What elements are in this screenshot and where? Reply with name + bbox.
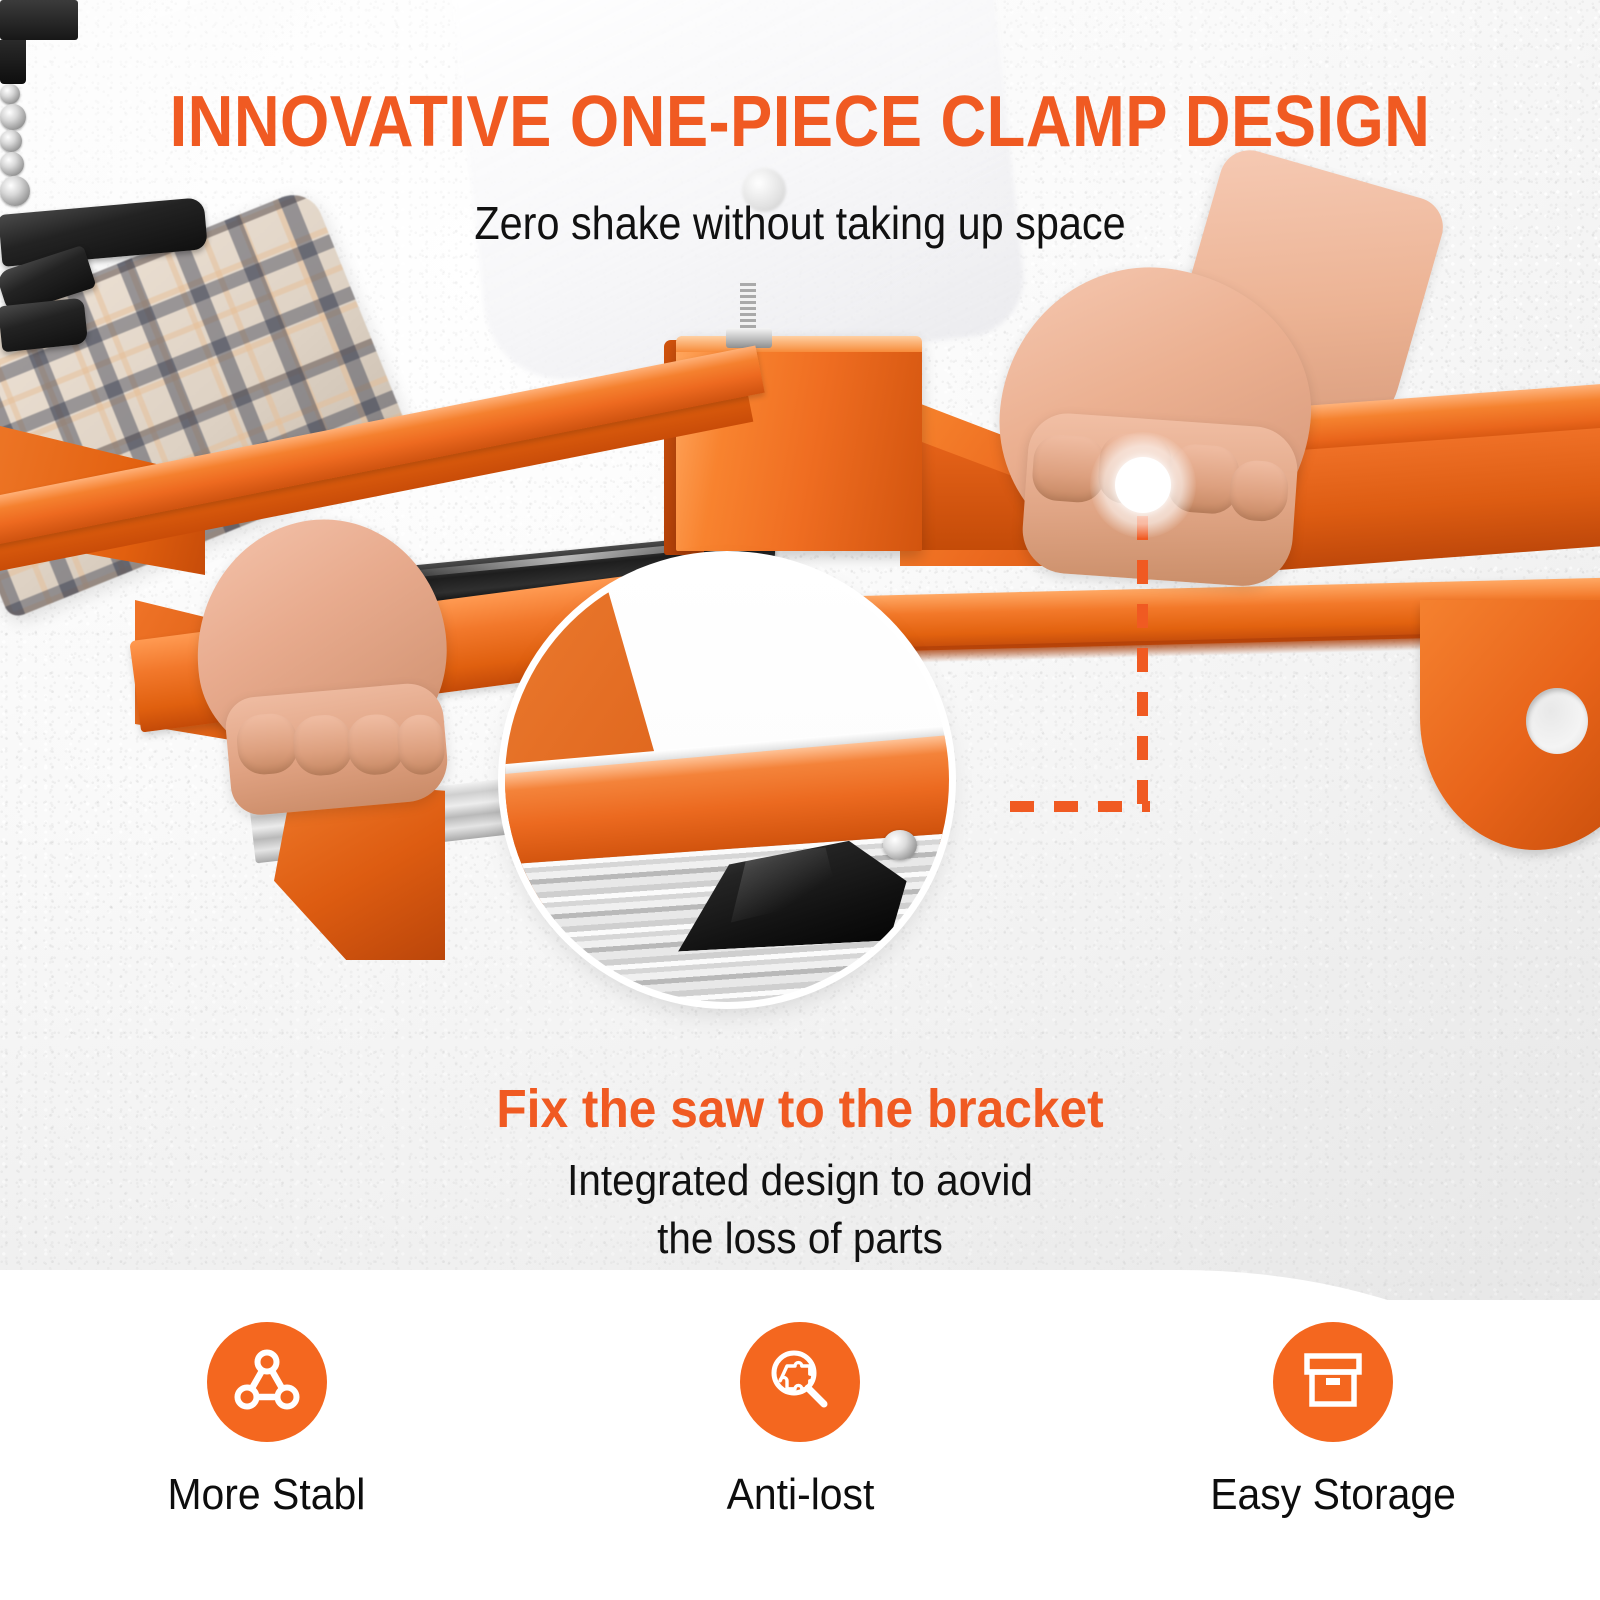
feature-icon-badge-3 — [1273, 1322, 1393, 1442]
section-heading: Fix the saw to the bracket — [64, 1078, 1536, 1140]
end-plate-hole — [1526, 688, 1588, 754]
bolt-right-rail — [0, 176, 30, 206]
product-photo: INNOVATIVE ONE-PIECE CLAMP DESIGN Zero s… — [0, 0, 1600, 1300]
feature-item-easy-storage: Easy Storage — [1067, 1290, 1600, 1600]
finger-4 — [395, 713, 446, 777]
product-infographic: INNOVATIVE ONE-PIECE CLAMP DESIGN Zero s… — [0, 0, 1600, 1600]
finger-1 — [235, 712, 300, 777]
callout-leader-horizontal — [1010, 801, 1150, 812]
feature-label-3: Easy Storage — [1210, 1470, 1456, 1520]
page-title: INNOVATIVE ONE-PIECE CLAMP DESIGN — [96, 86, 1504, 158]
feature-item-anti-lost: Anti-lost — [533, 1290, 1066, 1600]
bolt-left-cap — [0, 84, 20, 104]
finger-2 — [291, 713, 354, 778]
callout-marker-dot — [1115, 457, 1171, 513]
storage-box-icon — [1296, 1343, 1370, 1422]
left-end-cap — [0, 0, 78, 40]
magnifier-puzzle-icon — [763, 1343, 837, 1422]
triangle-nodes-icon — [230, 1343, 304, 1422]
section-description: Integrated design to aovid the loss of p… — [64, 1152, 1536, 1268]
magnifier-detail-circle — [505, 558, 949, 1002]
callout-leader-vertical — [1137, 516, 1148, 812]
feature-icon-badge-1 — [207, 1322, 327, 1442]
page-subtitle: Zero shake without taking up space — [80, 196, 1520, 250]
right-grip-foot — [0, 298, 88, 353]
feature-label-2: Anti-lost — [726, 1470, 874, 1520]
bracket-box-lip — [676, 336, 922, 352]
bolt-left-lower — [0, 152, 24, 176]
bolt-center — [0, 104, 26, 130]
left-hand-fingers — [223, 681, 450, 818]
right-finger-4 — [1228, 459, 1290, 523]
feature-icon-badge-2 — [740, 1322, 860, 1442]
bolt-nut — [726, 328, 772, 348]
section-description-line1: Integrated design to aovid — [64, 1152, 1536, 1210]
feature-list: More Stabl Anti-lost — [0, 1290, 1600, 1600]
feature-label-1: More Stabl — [168, 1470, 366, 1520]
feature-item-more-stable: More Stabl — [0, 1290, 533, 1600]
left-end-cap-foot — [0, 40, 26, 84]
magnifier-screw — [883, 830, 917, 860]
section-description-line2: the loss of parts — [64, 1210, 1536, 1268]
bolt-left-web — [0, 130, 22, 152]
